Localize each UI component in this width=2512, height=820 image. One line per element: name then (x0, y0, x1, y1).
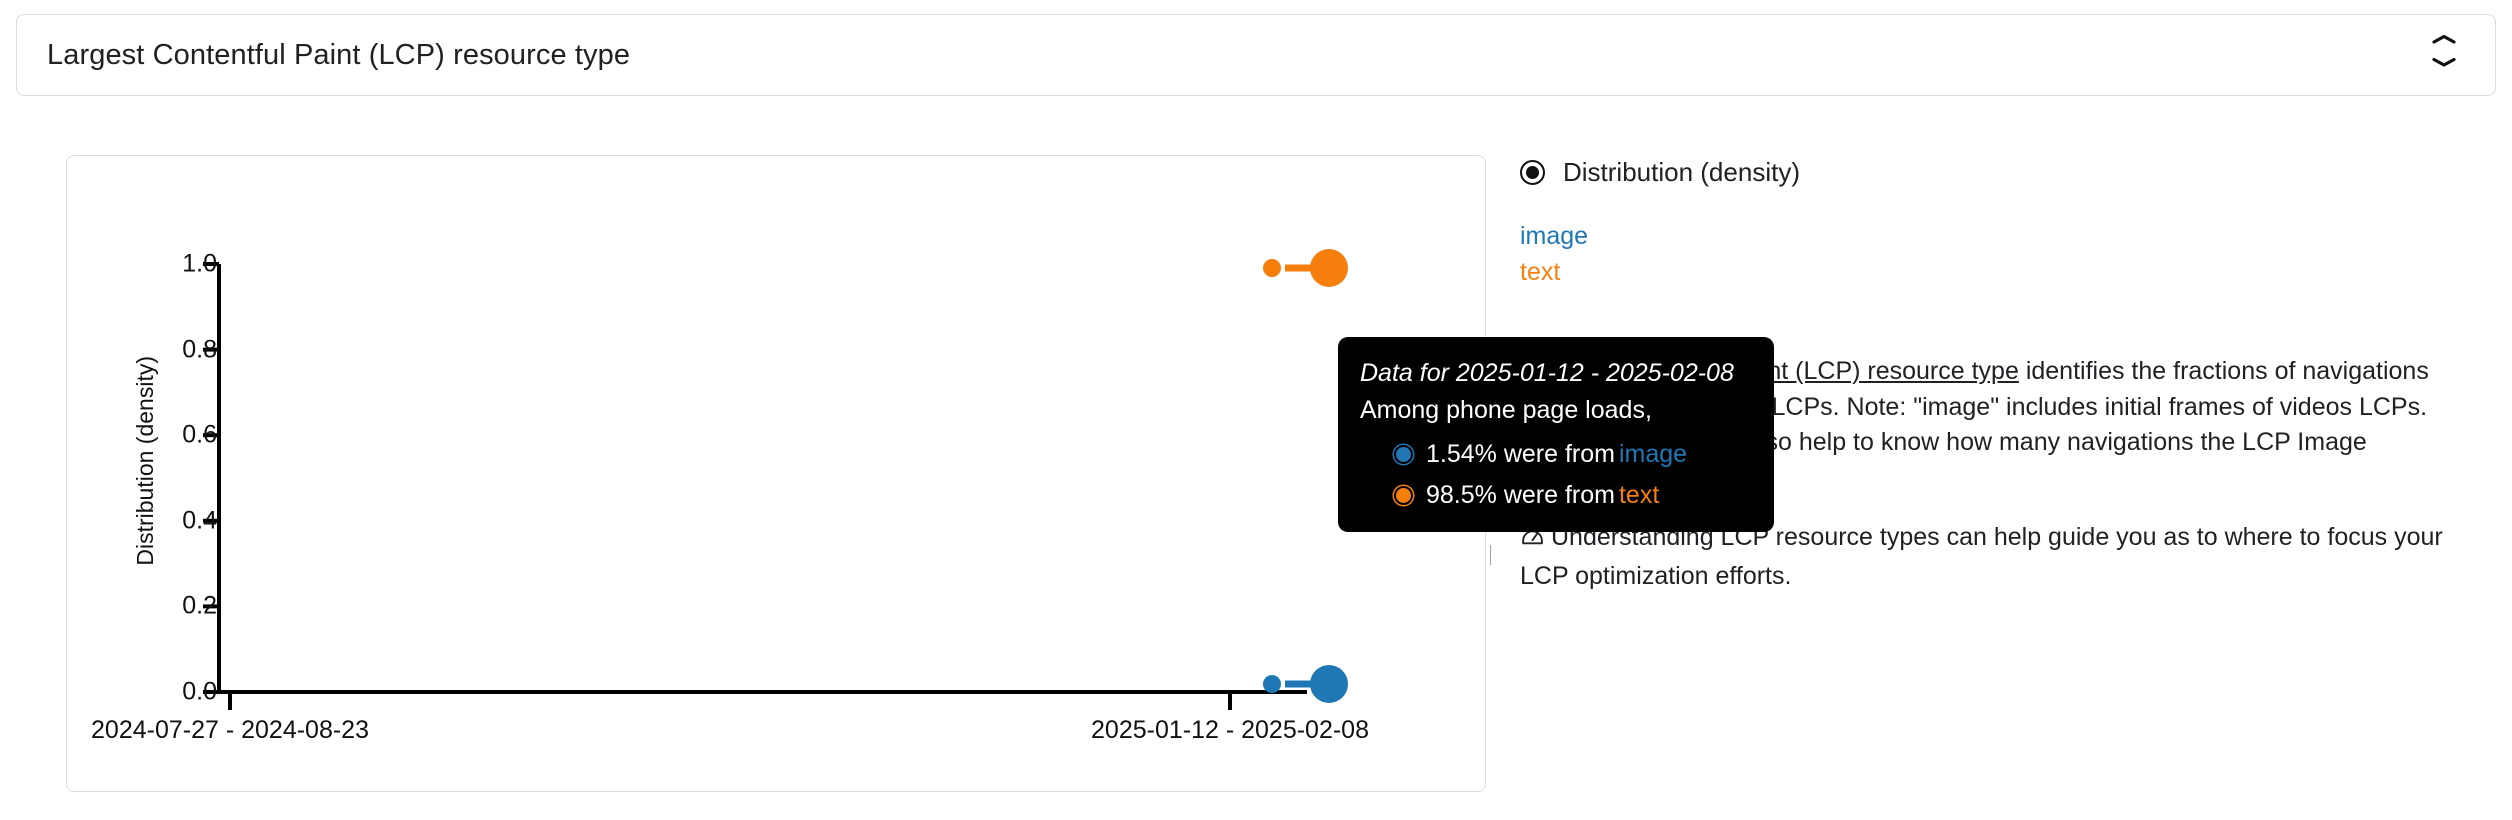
radio-inner-dot (1526, 166, 1539, 179)
chart-card: 1.0 0.8 0.6 0.4 0.2 0.0 Distribution (de… (66, 155, 1486, 792)
tooltip-row-value: 1.54% were from (1426, 440, 1615, 469)
y-axis-title-text: Distribution (density) (132, 356, 159, 572)
tooltip-row-series: text (1619, 481, 1659, 510)
tooltip-heading: Data for 2025-01-12 - 2025-02-08 (1360, 357, 1748, 390)
y-axis-title: Distribution (density) (125, 356, 165, 776)
x-tick-label: 2024-07-27 - 2024-08-23 (91, 716, 369, 745)
y-tick-label: 1.0 (145, 250, 217, 279)
radio-selected-icon (1520, 160, 1545, 185)
metric-tip-text: Understanding LCP resource types can hel… (1520, 523, 2443, 590)
chart-plot-area[interactable] (67, 156, 1487, 793)
page-title: Largest Contentful Paint (LCP) resource … (47, 41, 2421, 70)
tooltip-row-series: image (1619, 440, 1687, 469)
tooltip-row-text: 98.5% were from text (1360, 481, 1748, 510)
chart-legend: image text (1520, 219, 2460, 290)
radio-label: Distribution (density) (1563, 157, 1800, 188)
series-dot-text (1394, 486, 1413, 505)
legend-item-image[interactable]: image (1520, 219, 1588, 255)
tooltip-subheading: Among phone page loads, (1360, 392, 1748, 428)
radio-distribution-density[interactable]: Distribution (density) (1520, 155, 2460, 189)
tooltip-row-value: 98.5% were from (1426, 481, 1615, 510)
chevron-up-down-icon[interactable] (2421, 29, 2467, 81)
panel-header: Largest Contentful Paint (LCP) resource … (16, 14, 2496, 96)
x-tick-label: 2025-01-12 - 2025-02-08 (1091, 716, 1369, 745)
series-dot-image (1394, 445, 1413, 464)
legend-item-text[interactable]: text (1520, 255, 1560, 291)
tooltip-pointer (1490, 545, 1491, 565)
chart-tooltip: Data for 2025-01-12 - 2025-02-08 Among p… (1338, 337, 1774, 532)
lcp-resource-type-panel: Largest Contentful Paint (LCP) resource … (0, 0, 2512, 820)
tooltip-row-image: 1.54% were from image (1360, 440, 1748, 469)
